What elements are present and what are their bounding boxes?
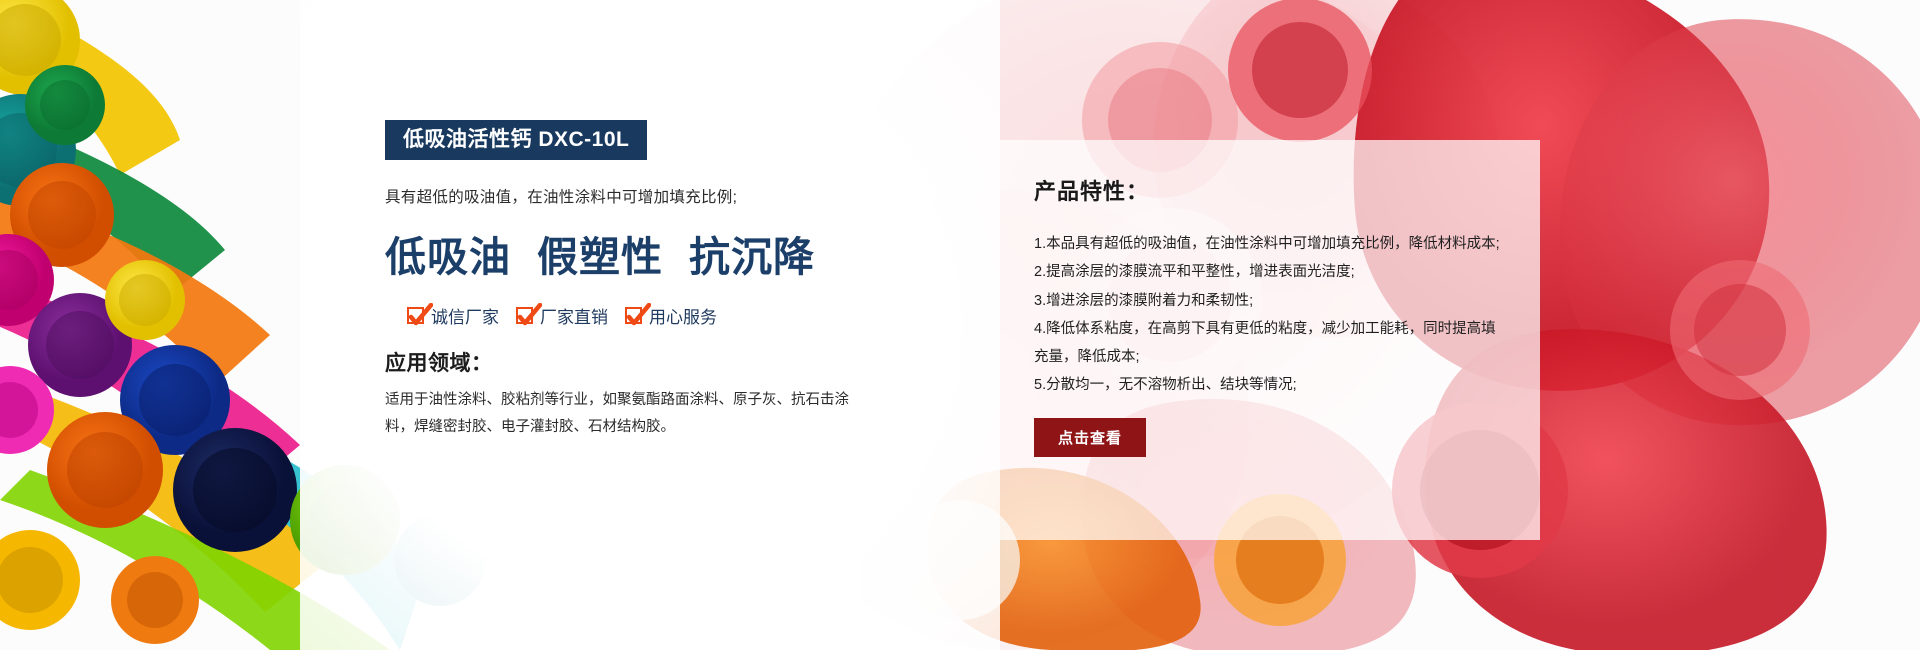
headline-part-2: 假塑性 xyxy=(537,234,663,280)
headline-part-3: 抗沉降 xyxy=(689,234,815,280)
headline-part-1: 低吸油 xyxy=(385,234,511,280)
trust-badge-item-2: 厂家直销 xyxy=(516,303,608,328)
application-section-title: 应用领域： xyxy=(385,347,865,377)
feature-headline: 低吸油假塑性抗沉降 xyxy=(385,223,865,283)
checkbox-checked-icon xyxy=(516,307,533,324)
view-details-button[interactable]: 点击查看 xyxy=(1034,418,1146,457)
feature-list-item: 5.分散均一，无不溶物析出、结块等情况; xyxy=(1034,371,1506,399)
product-subline: 具有超低的吸油值，在油性涂料中可增加填充比例; xyxy=(385,185,865,207)
checkbox-checked-icon xyxy=(407,307,424,324)
background-artwork xyxy=(0,0,1920,650)
feature-list-item: 2.提高涂层的漆膜流平和平整性，增进表面光洁度; xyxy=(1034,258,1506,286)
left-content-column: 低吸油活性钙 DXC-10L 具有超低的吸油值，在油性涂料中可增加填充比例; 低… xyxy=(385,120,865,441)
trust-badge-label-2: 厂家直销 xyxy=(540,303,608,328)
promo-banner: 低吸油活性钙 DXC-10L 具有超低的吸油值，在油性涂料中可增加填充比例; 低… xyxy=(0,0,1920,650)
trust-badge-item-3: 用心服务 xyxy=(625,303,717,328)
trust-badge-label-1: 诚信厂家 xyxy=(431,303,499,328)
features-list: 1.本品具有超低的吸油值，在油性涂料中可增加填充比例，降低材料成本; 2.提高涂… xyxy=(1034,230,1506,400)
feature-list-item: 4.降低体系粘度，在高剪下具有更低的粘度，减少加工能耗，同时提高填充量，降低成本… xyxy=(1034,315,1506,372)
trust-badge-row: 诚信厂家 厂家直销 用心服务 xyxy=(385,303,865,328)
trust-badge-label-3: 用心服务 xyxy=(649,303,717,328)
product-title-badge: 低吸油活性钙 DXC-10L xyxy=(385,120,647,160)
features-panel-title: 产品特性： xyxy=(1034,174,1506,206)
application-section-body: 适用于油性涂料、胶粘剂等行业，如聚氨酯路面涂料、原子灰、抗石击涂料，焊缝密封胶、… xyxy=(385,387,855,441)
feature-list-item: 3.增进涂层的漆膜附着力和柔韧性; xyxy=(1034,287,1506,315)
product-features-panel: 产品特性： 1.本品具有超低的吸油值，在油性涂料中可增加填充比例，降低材料成本;… xyxy=(1000,140,1540,540)
checkbox-checked-icon xyxy=(625,307,642,324)
feature-list-item: 1.本品具有超低的吸油值，在油性涂料中可增加填充比例，降低材料成本; xyxy=(1034,230,1506,258)
trust-badge-item-1: 诚信厂家 xyxy=(407,303,499,328)
